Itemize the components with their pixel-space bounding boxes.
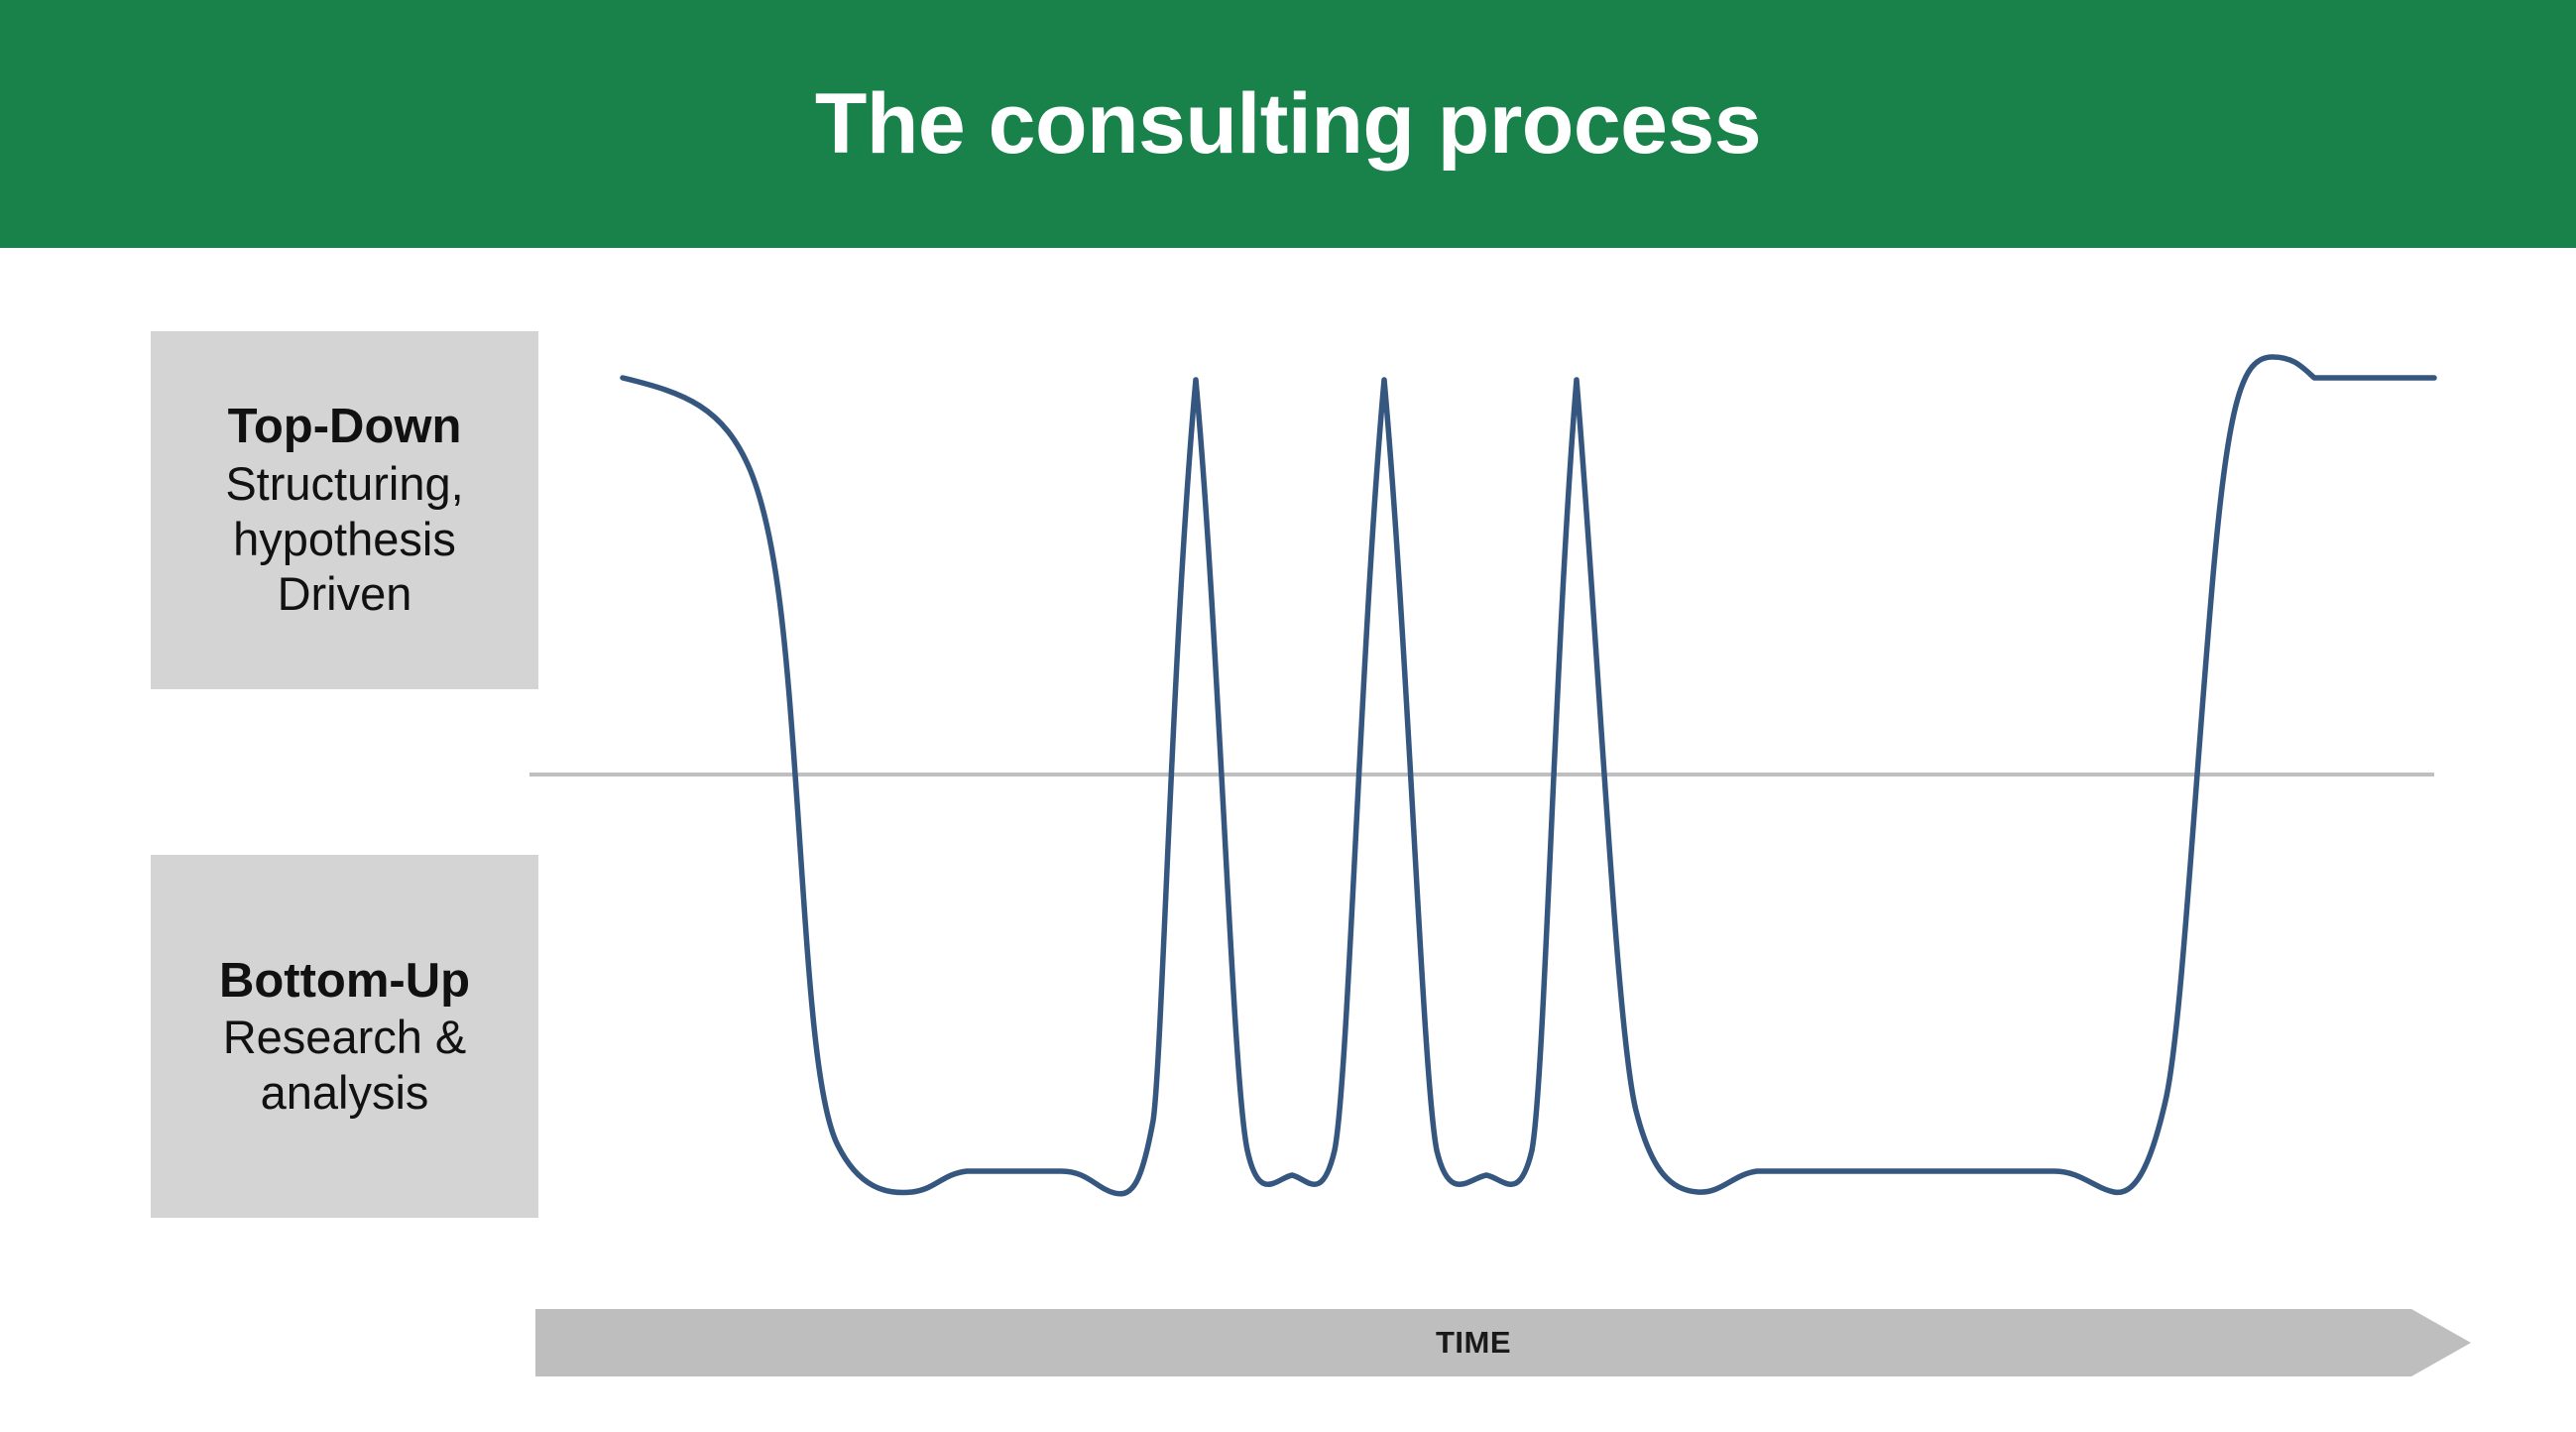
time-axis-arrow: TIME (535, 1309, 2471, 1376)
label-bottom-up-description: Research & analysis (176, 1010, 514, 1120)
label-top-down-title: Top-Down (228, 399, 462, 456)
label-bottom-up-title: Bottom-Up (219, 953, 470, 1011)
label-box-top-down: Top-Down Structuring, hypothesis Driven (151, 331, 538, 689)
label-box-bottom-up: Bottom-Up Research & analysis (151, 855, 538, 1218)
time-axis-label: TIME (535, 1309, 2411, 1376)
page-title: The consulting process (0, 0, 2576, 248)
label-top-down-description: Structuring, hypothesis Driven (176, 456, 514, 621)
slide-canvas: The consulting process Top-Down Structur… (0, 0, 2576, 1432)
